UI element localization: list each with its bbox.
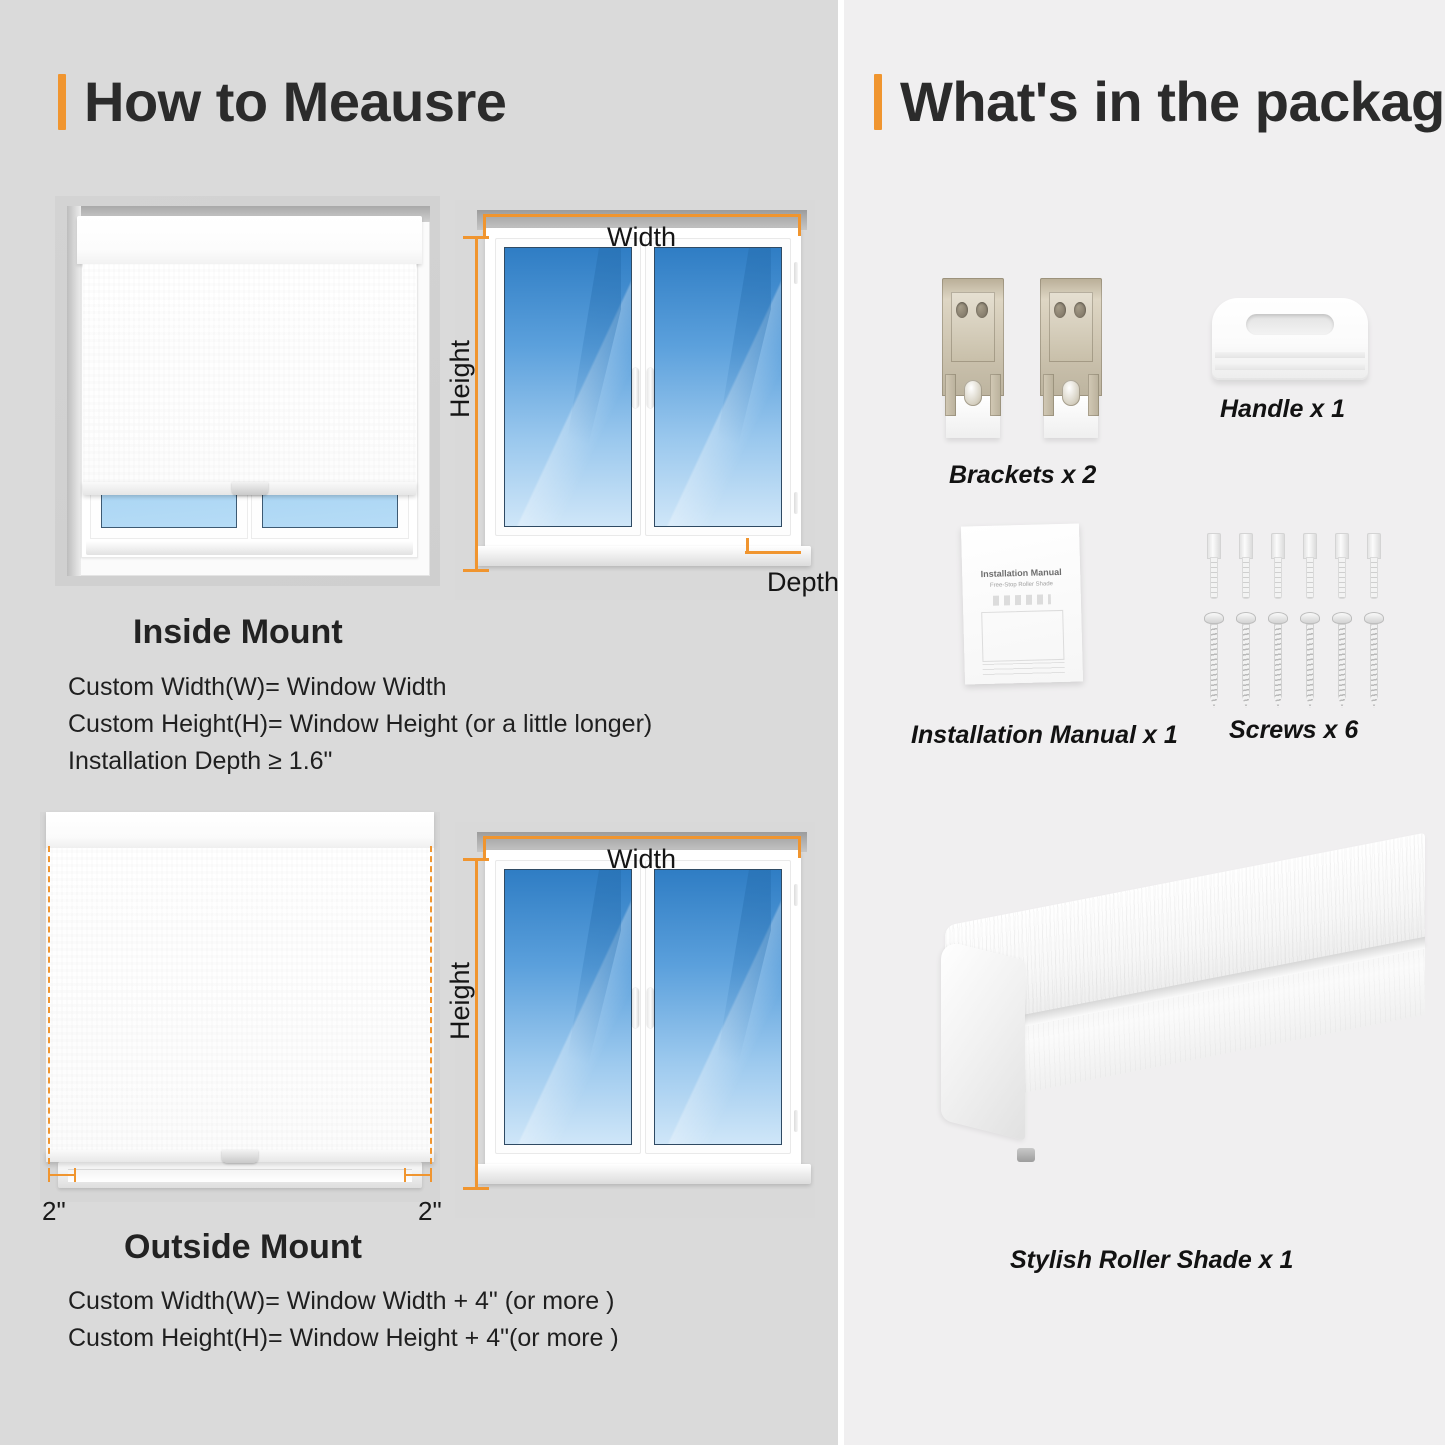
window-sash-right	[645, 238, 791, 536]
window-handle-right-icon	[647, 988, 654, 1028]
height-guide-cap-top	[463, 858, 489, 861]
width-label: Width	[607, 222, 676, 253]
manual-cover-graphic	[993, 594, 1051, 606]
window-frame	[485, 850, 801, 1166]
overhang-tick-left-inner	[74, 1168, 76, 1182]
bracket-hole-icon	[1074, 302, 1086, 318]
wall-anchor-icon	[1238, 533, 1254, 599]
window-glass-right	[654, 869, 782, 1145]
depth-guide-cap-left	[746, 538, 749, 554]
handle-body	[1212, 298, 1368, 380]
shade-headrail	[46, 812, 434, 848]
width-guide-cap-left	[483, 836, 486, 858]
screw-icon	[1206, 612, 1222, 708]
accent-bar-icon	[58, 74, 66, 130]
outside-mount-measure-diagram: Width Height	[455, 822, 815, 1218]
anchor-body	[1210, 557, 1218, 599]
screw-shaft	[1274, 624, 1282, 708]
window-glass-left	[504, 869, 632, 1145]
bracket-icon	[1040, 278, 1102, 438]
brackets-label: Brackets x 2	[949, 461, 1096, 490]
window-glass-right	[654, 247, 782, 527]
screw-head	[1364, 612, 1384, 624]
spec-line: Custom Height(H)= Window Height + 4"(or …	[68, 1321, 619, 1356]
manual-cover-diagram-box	[981, 610, 1064, 662]
bracket-hole-icon	[1054, 302, 1066, 318]
handle-grip-slot	[1246, 314, 1334, 335]
depth-label: Depth	[767, 567, 839, 598]
handle-lip	[1215, 364, 1365, 370]
anchor-body	[1306, 557, 1314, 599]
screw-icon	[1270, 612, 1286, 708]
roller-shade-icon	[905, 880, 1425, 1220]
bracket-slot-icon	[1062, 380, 1080, 406]
bracket-hole-icon	[976, 302, 988, 318]
window-hinge-top-icon	[794, 884, 798, 906]
screw-head	[1300, 612, 1320, 624]
overhang-dimension-right	[406, 1174, 432, 1176]
depth-guide-line	[745, 551, 801, 554]
inside-mount-measure-diagram: Width Height Depth	[455, 200, 815, 600]
shade-mounting-pin-icon	[1017, 1148, 1035, 1162]
bracket-wing-left	[1043, 374, 1054, 416]
bracket-wing-left	[945, 374, 956, 416]
manual-cover-subtitle: Free-Stop Roller Shade	[962, 580, 1080, 589]
screw-shaft	[1370, 624, 1378, 708]
wall-anchor-icon	[1270, 533, 1286, 599]
spec-line: Installation Depth ≥ 1.6"	[68, 744, 652, 779]
shade-end-cap	[941, 940, 1025, 1141]
shade-fabric	[46, 848, 434, 1154]
wall-anchor-icon	[1334, 533, 1350, 599]
window-sill	[58, 1162, 422, 1188]
width-guide-line	[483, 836, 801, 839]
window-sill-inner	[68, 1169, 412, 1182]
screw-icon	[1366, 612, 1382, 708]
height-guide-cap-bottom	[463, 569, 489, 572]
screw-head	[1236, 612, 1256, 624]
spec-line: Custom Width(W)= Window Width + 4" (or m…	[68, 1284, 619, 1319]
handle-icon	[1212, 298, 1368, 380]
window-sash-right	[645, 860, 791, 1154]
screw-head	[1204, 612, 1224, 624]
screw-head	[1268, 612, 1288, 624]
width-guide-line	[483, 214, 801, 217]
height-label: Height	[445, 340, 476, 418]
overhang-tick-right-inner	[404, 1168, 406, 1182]
screw-icon	[1302, 612, 1318, 708]
height-label: Height	[445, 962, 476, 1040]
wall-anchor-icon	[1302, 533, 1318, 599]
outside-mount-title: Outside Mount	[124, 1228, 362, 1267]
anchor-body	[1274, 557, 1282, 599]
window-sill	[477, 546, 811, 566]
shade-fabric	[83, 264, 416, 482]
window-frame	[485, 228, 801, 548]
manual-cover-footer-lines	[983, 662, 1065, 676]
shade-pull-handle-icon	[222, 1150, 258, 1163]
bracket-wing-right	[990, 374, 1001, 416]
manual-icon: Installation Manual Free-Stop Roller Sha…	[961, 523, 1083, 684]
anchor-head	[1303, 533, 1317, 559]
shade-bottom-rail	[46, 1150, 434, 1162]
handle-lip	[1215, 352, 1365, 358]
width-label: Width	[607, 844, 676, 875]
window-sash-left	[495, 860, 641, 1154]
bracket-wing-right	[1088, 374, 1099, 416]
handle-label: Handle x 1	[1220, 395, 1345, 424]
anchor-head	[1207, 533, 1221, 559]
height-guide-cap-top	[463, 236, 489, 239]
bracket-icon	[942, 278, 1004, 438]
screw-shaft	[1242, 624, 1250, 708]
accent-bar-icon	[874, 74, 882, 130]
height-guide-cap-bottom	[463, 1187, 489, 1190]
overhang-label-right: 2"	[418, 1196, 442, 1227]
window-sill	[477, 1164, 811, 1184]
infographic-page: How to Meausre What's in the package	[0, 0, 1445, 1445]
overhang-guide-right	[430, 846, 432, 1174]
overhang-dimension-left	[48, 1174, 74, 1176]
inside-mount-illustration	[55, 196, 440, 586]
screw-shaft	[1306, 624, 1314, 708]
spec-line: Custom Height(H)= Window Height (or a li…	[68, 707, 652, 742]
anchor-head	[1239, 533, 1253, 559]
anchor-body	[1338, 557, 1346, 599]
anchor-head	[1271, 533, 1285, 559]
spec-line: Custom Width(W)= Window Width	[68, 670, 652, 705]
outside-mount-specs: Custom Width(W)= Window Width + 4" (or m…	[68, 1284, 619, 1358]
package-heading: What's in the package	[874, 74, 1445, 130]
anchor-body	[1242, 557, 1250, 599]
screw-icon	[1238, 612, 1254, 708]
roller-shade-label: Stylish Roller Shade x 1	[1010, 1246, 1293, 1275]
window-hinge-bottom-icon	[794, 492, 798, 514]
bracket-hole-icon	[956, 302, 968, 318]
screw-shaft	[1210, 624, 1218, 708]
window-sash-left	[495, 238, 641, 536]
inside-mount-specs: Custom Width(W)= Window Width Custom Hei…	[68, 670, 652, 781]
width-guide-cap-left	[483, 214, 486, 236]
width-guide-cap-right	[798, 836, 801, 858]
window-handle-right-icon	[647, 368, 654, 408]
window-handle-left-icon	[632, 368, 639, 408]
manual-label: Installation Manual x 1	[911, 721, 1178, 750]
manual-cover-title: Installation Manual	[962, 566, 1080, 579]
overhang-label-left: 2"	[42, 1196, 66, 1227]
outside-mount-illustration	[40, 812, 440, 1202]
anchor-body	[1370, 557, 1378, 599]
shade-bottom-rail	[83, 482, 416, 495]
screws-label: Screws x 6	[1229, 716, 1358, 745]
bracket-slot-icon	[964, 380, 982, 406]
screw-shaft	[1338, 624, 1346, 708]
shade-pull-handle-icon	[232, 482, 268, 495]
screw-head	[1332, 612, 1352, 624]
overhang-tick-left-outer	[48, 1168, 50, 1182]
overhang-guide-left	[48, 846, 50, 1174]
overhang-tick-right-outer	[430, 1168, 432, 1182]
package-heading-text: What's in the package	[900, 74, 1445, 130]
screw-icon	[1334, 612, 1350, 708]
how-to-measure-heading: How to Meausre	[58, 74, 506, 130]
window-hinge-top-icon	[794, 262, 798, 284]
window-handle-left-icon	[632, 988, 639, 1028]
width-guide-cap-right	[798, 214, 801, 236]
anchor-head	[1367, 533, 1381, 559]
how-to-measure-heading-text: How to Meausre	[84, 74, 506, 130]
anchor-head	[1335, 533, 1349, 559]
wall-anchor-icon	[1366, 533, 1382, 599]
inside-mount-title: Inside Mount	[133, 613, 343, 652]
wall-anchor-icon	[1206, 533, 1222, 599]
window-hinge-bottom-icon	[794, 1110, 798, 1132]
window-glass-left	[504, 247, 632, 527]
window-sill	[86, 541, 413, 555]
shade-headrail	[77, 216, 422, 264]
